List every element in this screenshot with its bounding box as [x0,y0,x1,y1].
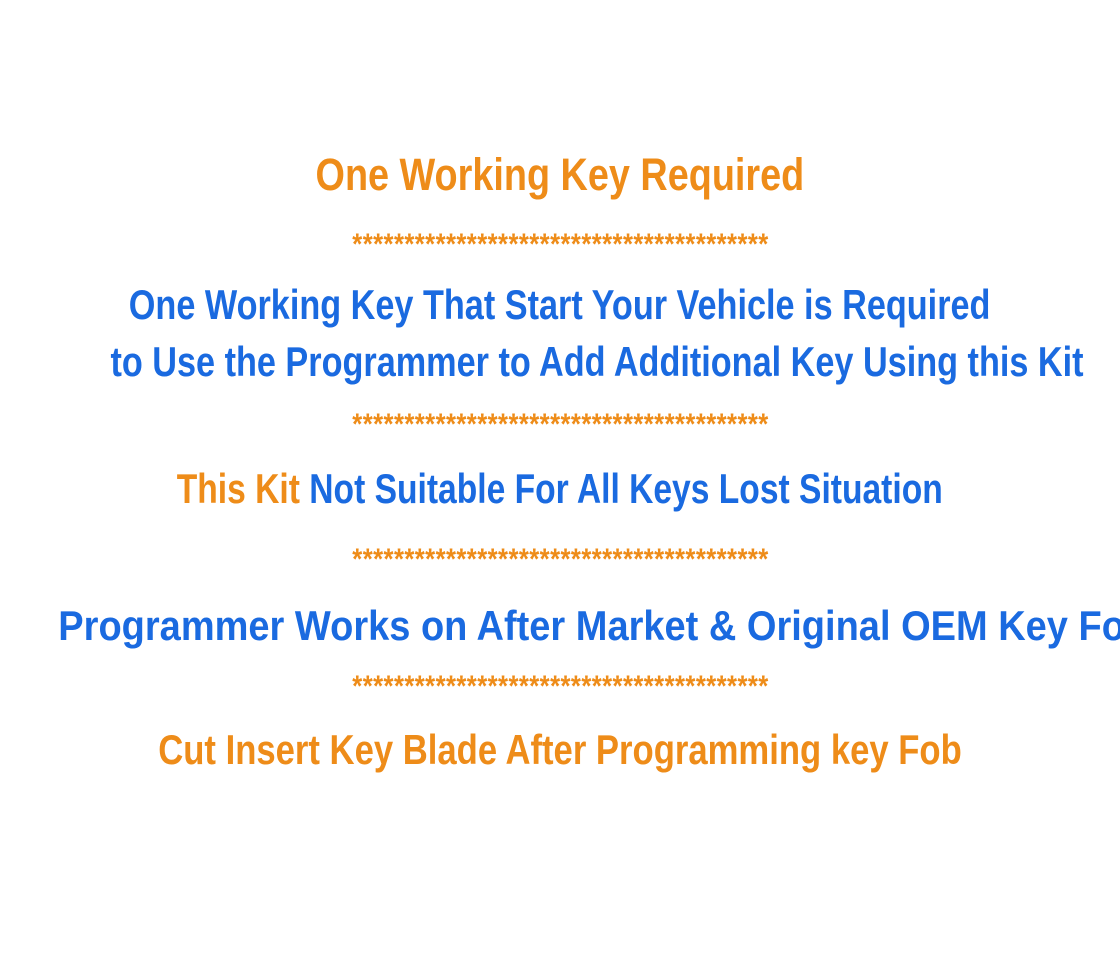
asterisk-divider-1: **************************************** [0,230,1120,260]
promo-info-card: One Working Key Required ***************… [0,0,1120,956]
requirement-line-2-text: to Use the Programmer to Add Additional … [110,341,1083,383]
requirement-line-1: One Working Key That Start Your Vehicle … [0,284,1120,326]
asterisk-divider-1-text: **************************************** [352,230,768,260]
requirement-line-2: to Use the Programmer to Add Additional … [0,341,1120,383]
programmer-compatibility-notice: Programmer Works on After Market & Origi… [0,605,1120,647]
asterisk-divider-3-text: **************************************** [352,545,768,575]
not-suitable-highlight: This Kit [177,465,300,512]
asterisk-divider-2-text: **************************************** [352,410,768,440]
asterisk-divider-4: **************************************** [0,672,1120,702]
requirement-line-1-text: One Working Key That Start Your Vehicle … [129,284,991,326]
not-suitable-notice: This Kit Not Suitable For All Keys Lost … [0,468,1120,510]
page-title-text: One Working Key Required [316,152,805,197]
not-suitable-notice-inner: This Kit Not Suitable For All Keys Lost … [177,468,943,510]
asterisk-divider-2: **************************************** [0,410,1120,440]
cut-key-blade-notice: Cut Insert Key Blade After Programming k… [0,729,1120,771]
page-title: One Working Key Required [0,152,1120,197]
asterisk-divider-3: **************************************** [0,545,1120,575]
cut-key-blade-text: Cut Insert Key Blade After Programming k… [158,729,962,771]
asterisk-divider-4-text: **************************************** [352,672,768,702]
programmer-compatibility-text: Programmer Works on After Market & Origi… [58,605,1120,647]
not-suitable-rest: Not Suitable For All Keys Lost Situation [300,465,943,512]
